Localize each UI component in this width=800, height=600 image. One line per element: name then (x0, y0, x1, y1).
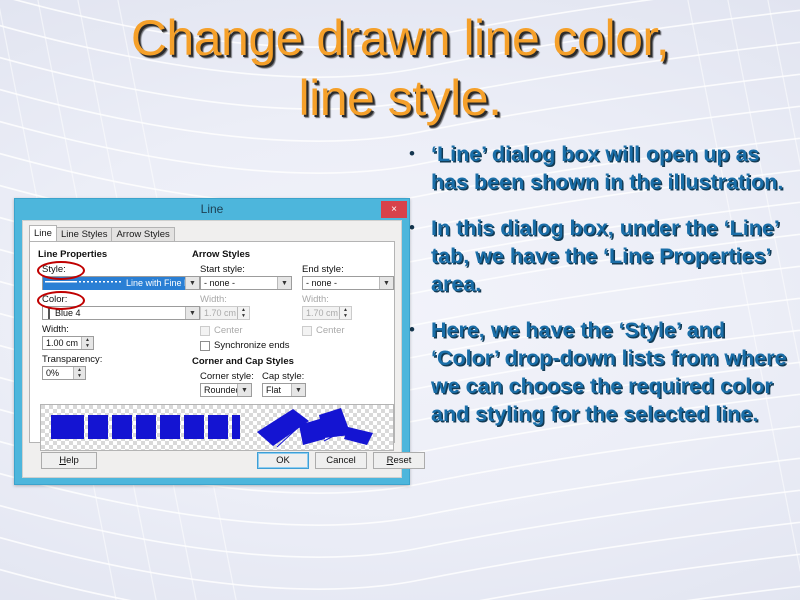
dialog-title: Line (201, 202, 224, 216)
bullet-text: Here, we have the ‘Style’ and ‘Color’ dr… (431, 316, 796, 428)
reset-button[interactable]: Reset (373, 452, 425, 469)
help-button-label: elp (66, 455, 79, 466)
cap-style-label: Cap style: (262, 371, 304, 382)
transparency-stepper[interactable]: 0% ▲▼ (42, 366, 86, 380)
start-center-label: Center (214, 325, 243, 336)
chevron-down-icon[interactable]: ▼ (185, 277, 199, 289)
checkbox-icon (302, 326, 312, 336)
style-dropdown[interactable]: Line with Fine Dots ▼ (42, 276, 200, 290)
checkbox-icon[interactable] (200, 341, 210, 351)
bullet-text: ‘Line’ dialog box will open up as has be… (431, 140, 796, 196)
end-style-dropdown[interactable]: - none - ▼ (302, 276, 394, 290)
line-preview-graphic (41, 405, 393, 450)
color-dropdown[interactable]: Blue 4 ▼ (42, 306, 200, 320)
bullet-item: • Here, we have the ‘Style’ and ‘Color’ … (406, 316, 796, 428)
stepper-buttons[interactable]: ▲▼ (81, 337, 93, 349)
end-width-stepper: 1.70 cm ▲▼ (302, 306, 352, 320)
start-width-value: 1.70 cm (201, 307, 237, 320)
chevron-down-icon[interactable]: ▼ (379, 277, 393, 289)
tab-line[interactable]: Line (29, 225, 57, 242)
color-swatch-icon (48, 307, 50, 319)
bullet-list: • ‘Line’ dialog box will open up as has … (406, 140, 796, 446)
width-label: Width: (42, 324, 69, 335)
tab-line-styles[interactable]: Line Styles (56, 227, 112, 242)
start-style-dropdown[interactable]: - none - ▼ (200, 276, 292, 290)
end-center-label: Center (316, 325, 345, 336)
stepper-buttons: ▲▼ (237, 307, 249, 319)
stepper-buttons[interactable]: ▲▼ (73, 367, 85, 379)
bullet-item: • ‘Line’ dialog box will open up as has … (406, 140, 796, 196)
dialog-tabstrip: Line Line Styles Arrow Styles (29, 226, 174, 242)
chevron-down-icon[interactable]: ▼ (277, 277, 291, 289)
line-style-preview-icon (45, 279, 123, 288)
arrow-styles-group-label: Arrow Styles (192, 249, 250, 260)
line-dialog: Line × Line Line Styles Arrow Styles Lin… (14, 198, 410, 485)
corner-style-label: Corner style: (200, 371, 254, 382)
color-dropdown-value: Blue 4 (55, 308, 81, 318)
color-dropdown-value-wrap: Blue 4 (43, 307, 185, 320)
transparency-label: Transparency: (42, 354, 102, 365)
ok-button[interactable]: OK (257, 452, 309, 469)
end-style-label: End style: (302, 264, 344, 275)
close-icon[interactable]: × (381, 201, 407, 218)
title-line-1: Change drawn line color, (40, 8, 760, 68)
width-value: 1.00 cm (43, 337, 81, 350)
bullet-text: In this dialog box, under the ‘Line’ tab… (431, 214, 796, 298)
bullet-item: • In this dialog box, under the ‘Line’ t… (406, 214, 796, 298)
slide-title: Change drawn line color, line style. (40, 8, 760, 128)
style-dropdown-value-wrap: Line with Fine Dots (43, 277, 185, 290)
color-label: Color: (42, 294, 67, 305)
corner-style-value: Rounded (201, 384, 237, 397)
style-dropdown-value: Line with Fine Dots (126, 277, 185, 290)
stepper-buttons: ▲▼ (339, 307, 351, 319)
cap-style-value: Flat (263, 384, 291, 397)
end-width-value: 1.70 cm (303, 307, 339, 320)
help-button[interactable]: Help (41, 452, 97, 469)
start-width-label: Width: (200, 294, 227, 305)
end-style-value: - none - (303, 277, 379, 290)
start-style-value: - none - (201, 277, 277, 290)
start-style-label: Start style: (200, 264, 245, 275)
line-properties-group-label: Line Properties (38, 249, 107, 260)
width-stepper[interactable]: 1.00 cm ▲▼ (42, 336, 94, 350)
chevron-down-icon[interactable]: ▼ (291, 384, 305, 396)
transparency-value: 0% (43, 367, 73, 380)
corner-cap-group-label: Corner and Cap Styles (192, 356, 294, 367)
checkbox-icon (200, 326, 210, 336)
start-width-stepper: 1.70 cm ▲▼ (200, 306, 250, 320)
synchronize-ends-label: Synchronize ends (214, 340, 290, 351)
chevron-down-icon[interactable]: ▼ (185, 307, 199, 319)
synchronize-ends-checkbox[interactable]: Synchronize ends (200, 340, 290, 351)
dialog-body: Line Line Styles Arrow Styles Line Prope… (22, 220, 402, 478)
tab-arrow-styles[interactable]: Arrow Styles (111, 227, 174, 242)
chevron-down-icon[interactable]: ▼ (237, 384, 251, 396)
dialog-tabpage: Line Properties Style: Line with Fine Do… (29, 241, 395, 443)
end-width-label: Width: (302, 294, 329, 305)
line-preview (40, 404, 394, 451)
end-center-checkbox: Center (302, 325, 345, 336)
dialog-titlebar: Line × (15, 199, 409, 220)
reset-button-label: eset (393, 455, 411, 466)
cap-style-dropdown[interactable]: Flat ▼ (262, 383, 306, 397)
corner-style-dropdown[interactable]: Rounded ▼ (200, 383, 252, 397)
style-label: Style: (42, 264, 66, 275)
bullet-marker: • (406, 140, 431, 196)
cancel-button[interactable]: Cancel (315, 452, 367, 469)
title-line-2: line style. (40, 68, 760, 128)
start-center-checkbox: Center (200, 325, 243, 336)
